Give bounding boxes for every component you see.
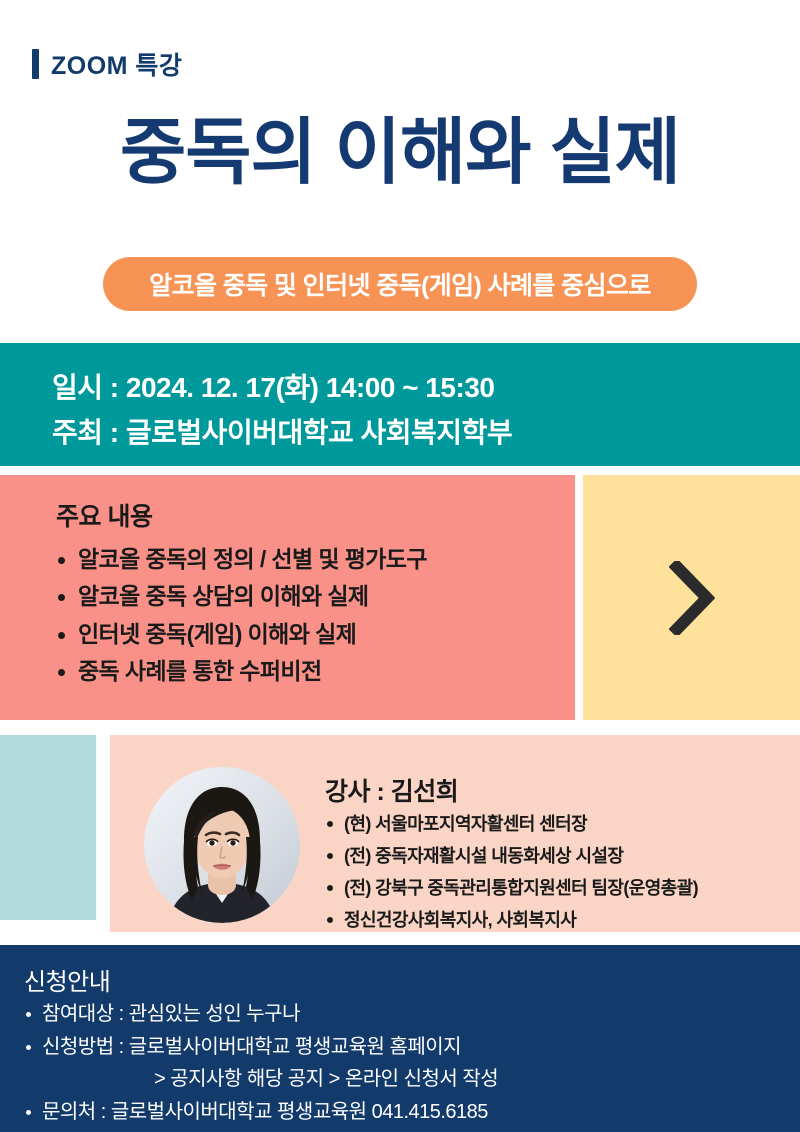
list-item: (현) 서울마포지역자활센터 센터장: [325, 808, 698, 840]
content-panel: 주요 내용 알코올 중독의 정의 / 선별 및 평가도구 알코올 중독 상담의 …: [0, 475, 575, 720]
list-item: 중독 사례를 통한 수퍼비전: [56, 653, 575, 690]
list-item: 인터넷 중독(게임) 이해와 실제: [56, 616, 575, 653]
accent-square: [0, 735, 96, 920]
eyebrow-header: ZOOM 특강: [32, 46, 182, 82]
list-item: > 공지사항 해당 공지 > 온라인 신청서 작성: [24, 1063, 498, 1096]
list-item: (전) 중독자재활시설 내동화세상 시설장: [325, 840, 698, 872]
footer-list: 참여대상 : 관심있는 성인 누구나 신청방법 : 글로벌사이버대학교 평생교육…: [24, 998, 498, 1132]
content-list: 알코올 중독의 정의 / 선별 및 평가도구 알코올 중독 상담의 이해와 실제…: [56, 541, 575, 690]
info-line-date: 일시 : 2024. 12. 17(화) 14:00 ~ 15:30: [52, 365, 800, 410]
accent-bar-icon: [32, 49, 39, 79]
list-item: 신청방법 : 글로벌사이버대학교 평생교육원 홈페이지: [24, 1031, 498, 1064]
content-heading: 주요 내용: [56, 497, 575, 533]
info-line-host: 주최 : 글로벌사이버대학교 사회복지학부: [52, 410, 800, 455]
page-title: 중독의 이해와 실제: [0, 112, 800, 195]
chevron-right-icon: [669, 561, 715, 635]
list-item: 알코올 중독 상담의 이해와 실제: [56, 578, 575, 615]
arrow-panel: [583, 475, 800, 720]
list-item: 참여대상 : 관심있는 성인 누구나: [24, 998, 498, 1031]
list-item: (전) 강북구 중독관리통합지원센터 팀장(운영총괄): [325, 872, 698, 904]
instructor-name: 강사 : 김선희: [325, 772, 458, 808]
list-item: 정신건강사회복지사, 사회복지사: [325, 904, 698, 936]
list-item: 알코올 중독의 정의 / 선별 및 평가도구: [56, 541, 575, 578]
portrait-illustration-icon: [144, 767, 300, 923]
footer-heading: 신청안내: [24, 962, 110, 997]
subtitle-label: 알코올 중독 및 인터넷 중독(게임) 사례를 중심으로: [149, 266, 651, 302]
poster-root: ZOOM 특강 중독의 이해와 실제 알코올 중독 및 인터넷 중독(게임) 사…: [0, 0, 800, 1132]
subtitle-pill: 알코올 중독 및 인터넷 중독(게임) 사례를 중심으로: [103, 257, 697, 311]
list-item: 문의처 : 글로벌사이버대학교 평생교육원 041.415.6185: [24, 1096, 498, 1129]
footer: 신청안내 참여대상 : 관심있는 성인 누구나 신청방법 : 글로벌사이버대학교…: [0, 945, 800, 1132]
instructor-credentials-list: (현) 서울마포지역자활센터 센터장 (전) 중독자재활시설 내동화세상 시설장…: [325, 808, 698, 936]
info-band: 일시 : 2024. 12. 17(화) 14:00 ~ 15:30 주최 : …: [0, 343, 800, 466]
instructor-photo: [144, 767, 300, 923]
eyebrow-label: ZOOM 특강: [51, 46, 182, 82]
list-item[interactable]: 홈페이지 : edu.global.ac.kr: [24, 1128, 498, 1132]
